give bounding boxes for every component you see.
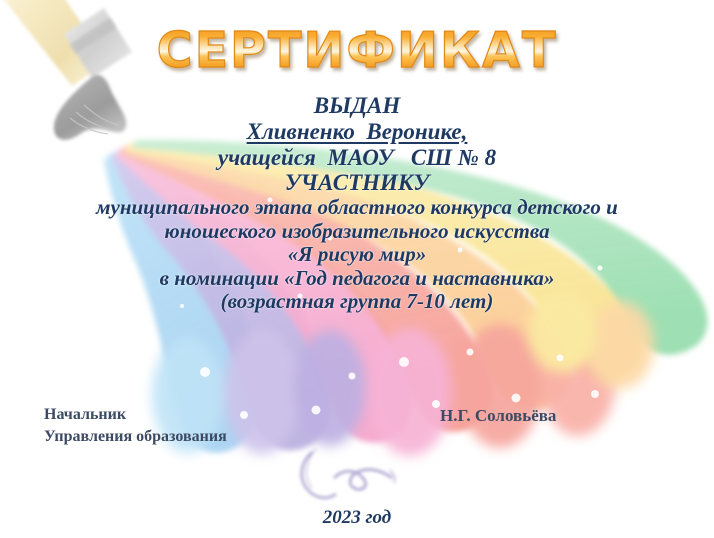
certificate-year: 2023 год [0, 507, 714, 529]
signatory-role-line-1: Начальник [44, 404, 227, 426]
signatory-role-line-2: Управления образования [44, 426, 227, 448]
signatory-role: Начальник Управления образования [44, 404, 227, 447]
body-line-recipient-name: Хливненко Веронике, [0, 119, 714, 145]
certificate-title: СЕРТИФИКАТ [157, 26, 558, 75]
body-line-school: учащейся МАОУ СШ № 8 [0, 145, 714, 171]
certificate-title-container: СЕРТИФИКАТ [0, 26, 714, 75]
body-line-contest-title: «Я рисую мир» [0, 243, 714, 267]
body-line-contest-1: муниципального этапа областного конкурса… [0, 196, 714, 220]
certificate-page: СЕРТИФИКАТ ВЫДАН Хливненко Веронике, уча… [0, 0, 714, 538]
certificate-body: ВЫДАН Хливненко Веронике, учащейся МАОУ … [0, 93, 714, 314]
body-line-issued: ВЫДАН [0, 93, 714, 119]
body-line-award-role: УЧАСТНИКУ [0, 170, 714, 196]
body-line-age-group: (возрастная группа 7-10 лет) [0, 290, 714, 314]
signatory-name: Н.Г. Соловьёва [440, 406, 556, 426]
body-line-nomination: в номинации «Год педагога и наставника» [0, 267, 714, 291]
body-line-contest-2: юношеского изобразительного искусства [0, 220, 714, 244]
